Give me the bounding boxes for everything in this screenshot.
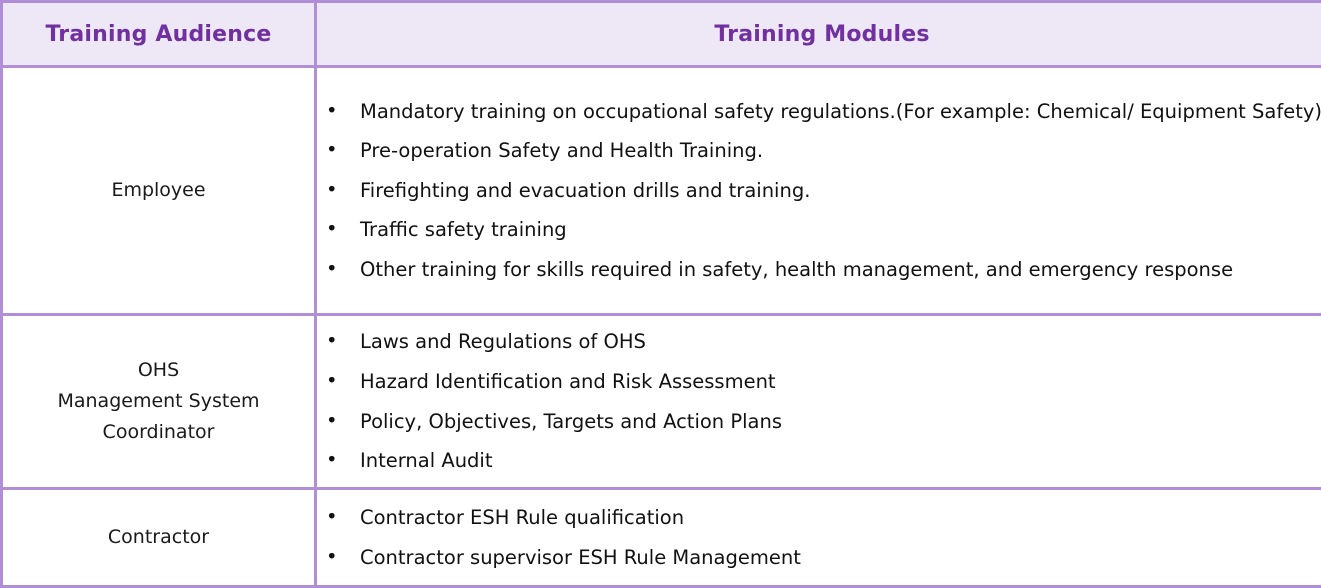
modules-cell-employee: • Mandatory training on occupational saf… xyxy=(316,67,1321,315)
list-item: • Policy, Objectives, Targets and Action… xyxy=(317,402,1321,442)
table-header-row: Training Audience Training Modules xyxy=(2,2,1321,67)
table-head: Training Audience Training Modules xyxy=(2,2,1321,67)
bullet-icon: • xyxy=(326,362,338,401)
module-text: Traffic safety training xyxy=(360,218,567,241)
module-text: Laws and Regulations of OHS xyxy=(360,330,646,353)
modules-cell-contractor: • Contractor ESH Rule qualification • Co… xyxy=(316,489,1321,587)
modules-cell-ohs-coordinator: • Laws and Regulations of OHS • Hazard I… xyxy=(316,315,1321,489)
list-item: • Contractor ESH Rule qualification xyxy=(317,498,1321,538)
bullet-icon: • xyxy=(326,92,338,131)
list-item: • Mandatory training on occupational saf… xyxy=(317,92,1321,132)
table-row-employee: Employee • Mandatory training on occupat… xyxy=(2,67,1321,315)
table-body: Employee • Mandatory training on occupat… xyxy=(2,67,1321,587)
table-row-contractor: Contractor • Contractor ESH Rule qualifi… xyxy=(2,489,1321,587)
list-item: • Hazard Identification and Risk Assessm… xyxy=(317,362,1321,402)
module-list-contractor: • Contractor ESH Rule qualification • Co… xyxy=(317,498,1321,578)
module-text: Firefighting and evacuation drills and t… xyxy=(360,179,810,202)
bullet-icon: • xyxy=(326,538,338,577)
module-text: Contractor supervisor ESH Rule Managemen… xyxy=(360,546,801,569)
audience-label-line: Coordinator xyxy=(3,417,314,448)
module-text: Pre-operation Safety and Health Training… xyxy=(360,139,763,162)
bullet-icon: • xyxy=(326,402,338,441)
bullet-icon: • xyxy=(326,441,338,480)
audience-label-line: Contractor xyxy=(3,522,314,553)
module-text: Mandatory training on occupational safet… xyxy=(360,100,1321,123)
module-text: Internal Audit xyxy=(360,449,493,472)
bullet-icon: • xyxy=(326,171,338,210)
module-text: Other training for skills required in sa… xyxy=(360,258,1233,281)
bullet-icon: • xyxy=(326,322,338,361)
list-item: • Contractor supervisor ESH Rule Managem… xyxy=(317,538,1321,578)
list-item: • Firefighting and evacuation drills and… xyxy=(317,171,1321,211)
bullet-icon: • xyxy=(326,250,338,289)
module-text: Contractor ESH Rule qualification xyxy=(360,506,684,529)
audience-cell-employee: Employee xyxy=(2,67,316,315)
training-matrix-container: Training Audience Training Modules Emplo… xyxy=(0,0,1321,582)
header-training-modules: Training Modules xyxy=(316,2,1321,67)
list-item: • Other training for skills required in … xyxy=(317,250,1321,290)
module-list-ohs-coordinator: • Laws and Regulations of OHS • Hazard I… xyxy=(317,322,1321,480)
table-row-ohs-coordinator: OHS Management System Coordinator • Laws… xyxy=(2,315,1321,489)
header-training-audience: Training Audience xyxy=(2,2,316,67)
training-requirements-table: Training Audience Training Modules Emplo… xyxy=(0,0,1321,588)
audience-label-line: OHS xyxy=(3,355,314,386)
module-text: Policy, Objectives, Targets and Action P… xyxy=(360,410,782,433)
module-list-employee: • Mandatory training on occupational saf… xyxy=(317,92,1321,290)
audience-cell-ohs-coordinator: OHS Management System Coordinator xyxy=(2,315,316,489)
audience-label-line: Management System xyxy=(3,386,314,417)
audience-label-line: Employee xyxy=(3,175,314,206)
bullet-icon: • xyxy=(326,131,338,170)
list-item: • Pre-operation Safety and Health Traini… xyxy=(317,131,1321,171)
bullet-icon: • xyxy=(326,210,338,249)
list-item: • Traffic safety training xyxy=(317,210,1321,250)
audience-cell-contractor: Contractor xyxy=(2,489,316,587)
list-item: • Internal Audit xyxy=(317,441,1321,481)
module-text: Hazard Identification and Risk Assessmen… xyxy=(360,370,776,393)
list-item: • Laws and Regulations of OHS xyxy=(317,322,1321,362)
bullet-icon: • xyxy=(326,498,338,537)
